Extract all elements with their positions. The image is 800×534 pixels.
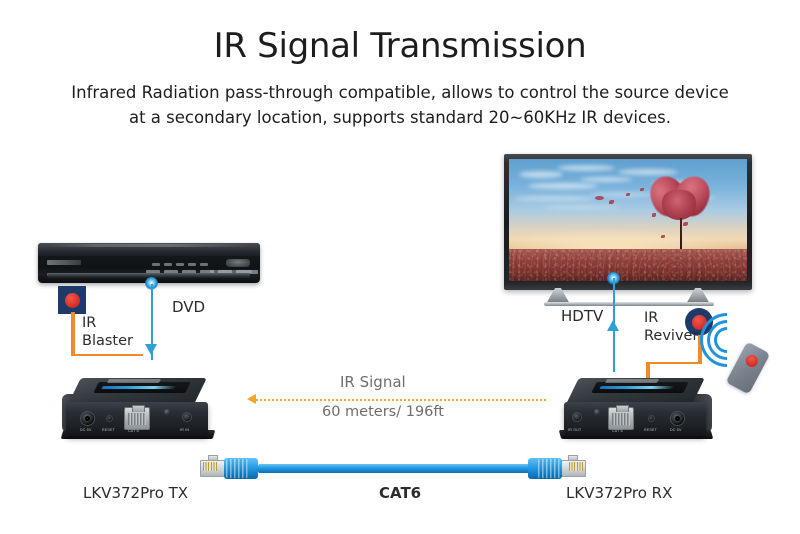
- ir-blaster-label-line2: Blaster: [82, 333, 133, 349]
- ir-signal-arrow-left-icon: [247, 394, 256, 404]
- dvd-label: DVD: [172, 298, 205, 316]
- rx-port-label-ir-out: IR OUT: [568, 428, 581, 432]
- tx-port-label-dc: DC 5V: [80, 428, 92, 432]
- ir-blaster-emitter: [58, 286, 86, 314]
- ir-receiver-wire-horizontal: [646, 362, 698, 364]
- tx-reset-button-icon[interactable]: [106, 415, 113, 422]
- ir-blaster-led-icon: [65, 293, 80, 308]
- tx-port-reset: [106, 415, 113, 422]
- tx-dc-jack-icon: [80, 411, 95, 426]
- extender-tx-top-strip: [93, 382, 190, 393]
- rx-reset-button-icon[interactable]: [648, 415, 655, 422]
- extender-rx-label: LKV372Pro RX: [566, 484, 672, 502]
- rx-port-label-cat6: CAT 6: [612, 429, 623, 433]
- extender-tx: DC 5V RESET CAT 6 IR IN: [62, 378, 214, 448]
- ir-receiver-label-line2: Reviver: [644, 328, 698, 344]
- extender-rx-top-strip: [591, 382, 688, 393]
- ir-blaster-wire-horizontal: [71, 354, 143, 356]
- hdtv-screen: [509, 159, 747, 281]
- diagram-canvas: IR Signal Transmission Infrared Radiatio…: [0, 0, 800, 534]
- extender-tx-label: LKV372Pro TX: [83, 484, 188, 502]
- hdtv-bezel: [504, 154, 752, 290]
- tx-rj45-jack-icon: [124, 407, 150, 430]
- hdtv: [504, 154, 752, 306]
- rx-port-ir-out: [572, 412, 582, 422]
- tx-ir-in-jack-icon: [182, 412, 192, 422]
- rx-port-cat6: [608, 407, 634, 430]
- cat6-cable: [258, 464, 542, 473]
- tx-port-cat6: [124, 407, 150, 430]
- rj45-pins-left: [203, 462, 217, 471]
- hdtv-stand-bar: [544, 302, 714, 306]
- extender-rx-front-panel: IR OUT CAT 6 RESET DC 5V: [564, 402, 706, 436]
- extender-rx-brand: [605, 379, 659, 383]
- cat6-connector-left: [200, 455, 258, 481]
- subtitle-line-2: at a secondary location, supports standa…: [0, 105, 800, 130]
- subtitle-line-1: Infrared Radiation pass-through compatib…: [0, 80, 800, 105]
- rx-port-reset: [648, 415, 655, 422]
- ir-signal-label: IR Signal: [340, 373, 406, 391]
- rx-screw-icon: [594, 409, 600, 415]
- ir-receiver-wire-drop: [646, 362, 650, 378]
- ir-blaster-label: IR Blaster: [82, 314, 142, 350]
- rj45-strain-relief-left: [226, 459, 248, 478]
- rj45-pins-right: [569, 462, 583, 471]
- tx-screw-icon: [164, 409, 170, 415]
- tx-port-ir-in: [182, 412, 192, 422]
- ir-receiver-label-line1: IR: [644, 310, 658, 326]
- tx-port-screw: [164, 409, 170, 415]
- page-title: IR Signal Transmission: [0, 26, 800, 66]
- dvd-indicator-leds: [152, 263, 208, 266]
- ir-signal-distance: 60 meters/ 196ft: [322, 404, 444, 420]
- extender-tx-brand: [107, 379, 161, 383]
- tx-port-label-reset: RESET: [102, 428, 115, 432]
- tx-port-label-cat6: CAT 6: [128, 429, 139, 433]
- extender-tx-front-panel: DC 5V RESET CAT 6 IR IN: [66, 402, 208, 436]
- remote-power-button-icon: [744, 353, 760, 369]
- screen-ground: [509, 249, 747, 281]
- dvd-brand-mark: [47, 260, 81, 265]
- ir-signal-dotted-line: [256, 399, 546, 401]
- ir-blaster-label-line1: IR: [82, 315, 96, 331]
- rx-ir-out-jack-icon: [572, 412, 582, 422]
- rx-port-screw: [594, 409, 600, 415]
- ir-receiver-label: IR Reviver: [644, 309, 704, 345]
- rx-port-label-dc: DC 5V: [670, 428, 682, 432]
- dvd-player-lid: [38, 243, 260, 256]
- rx-port-label-reset: RESET: [644, 428, 657, 432]
- tx-port-dc: [80, 411, 95, 426]
- rx-port-dc: [670, 411, 685, 426]
- rj45-tab-left: [208, 455, 218, 460]
- tx-port-label-ir-in: IR IN: [180, 428, 189, 432]
- cat6-label: CAT6: [379, 484, 421, 502]
- hdmi-arrow-down-tx: [145, 344, 157, 355]
- hdtv-label: HDTV: [561, 307, 603, 325]
- cat6-connector-right: [528, 455, 586, 481]
- dvd-logo-right: [226, 259, 250, 267]
- rx-dc-jack-icon: [670, 411, 685, 426]
- extender-rx: IR OUT CAT 6 RESET DC 5V: [560, 378, 712, 448]
- hdmi-arrow-up-rx: [607, 320, 619, 331]
- rj45-strain-relief-right: [538, 459, 560, 478]
- rx-rj45-jack-icon: [608, 407, 634, 430]
- page-subtitle: Infrared Radiation pass-through compatib…: [0, 80, 800, 130]
- rj45-tab-right: [568, 455, 578, 460]
- ir-blaster-wire-vertical: [71, 312, 75, 356]
